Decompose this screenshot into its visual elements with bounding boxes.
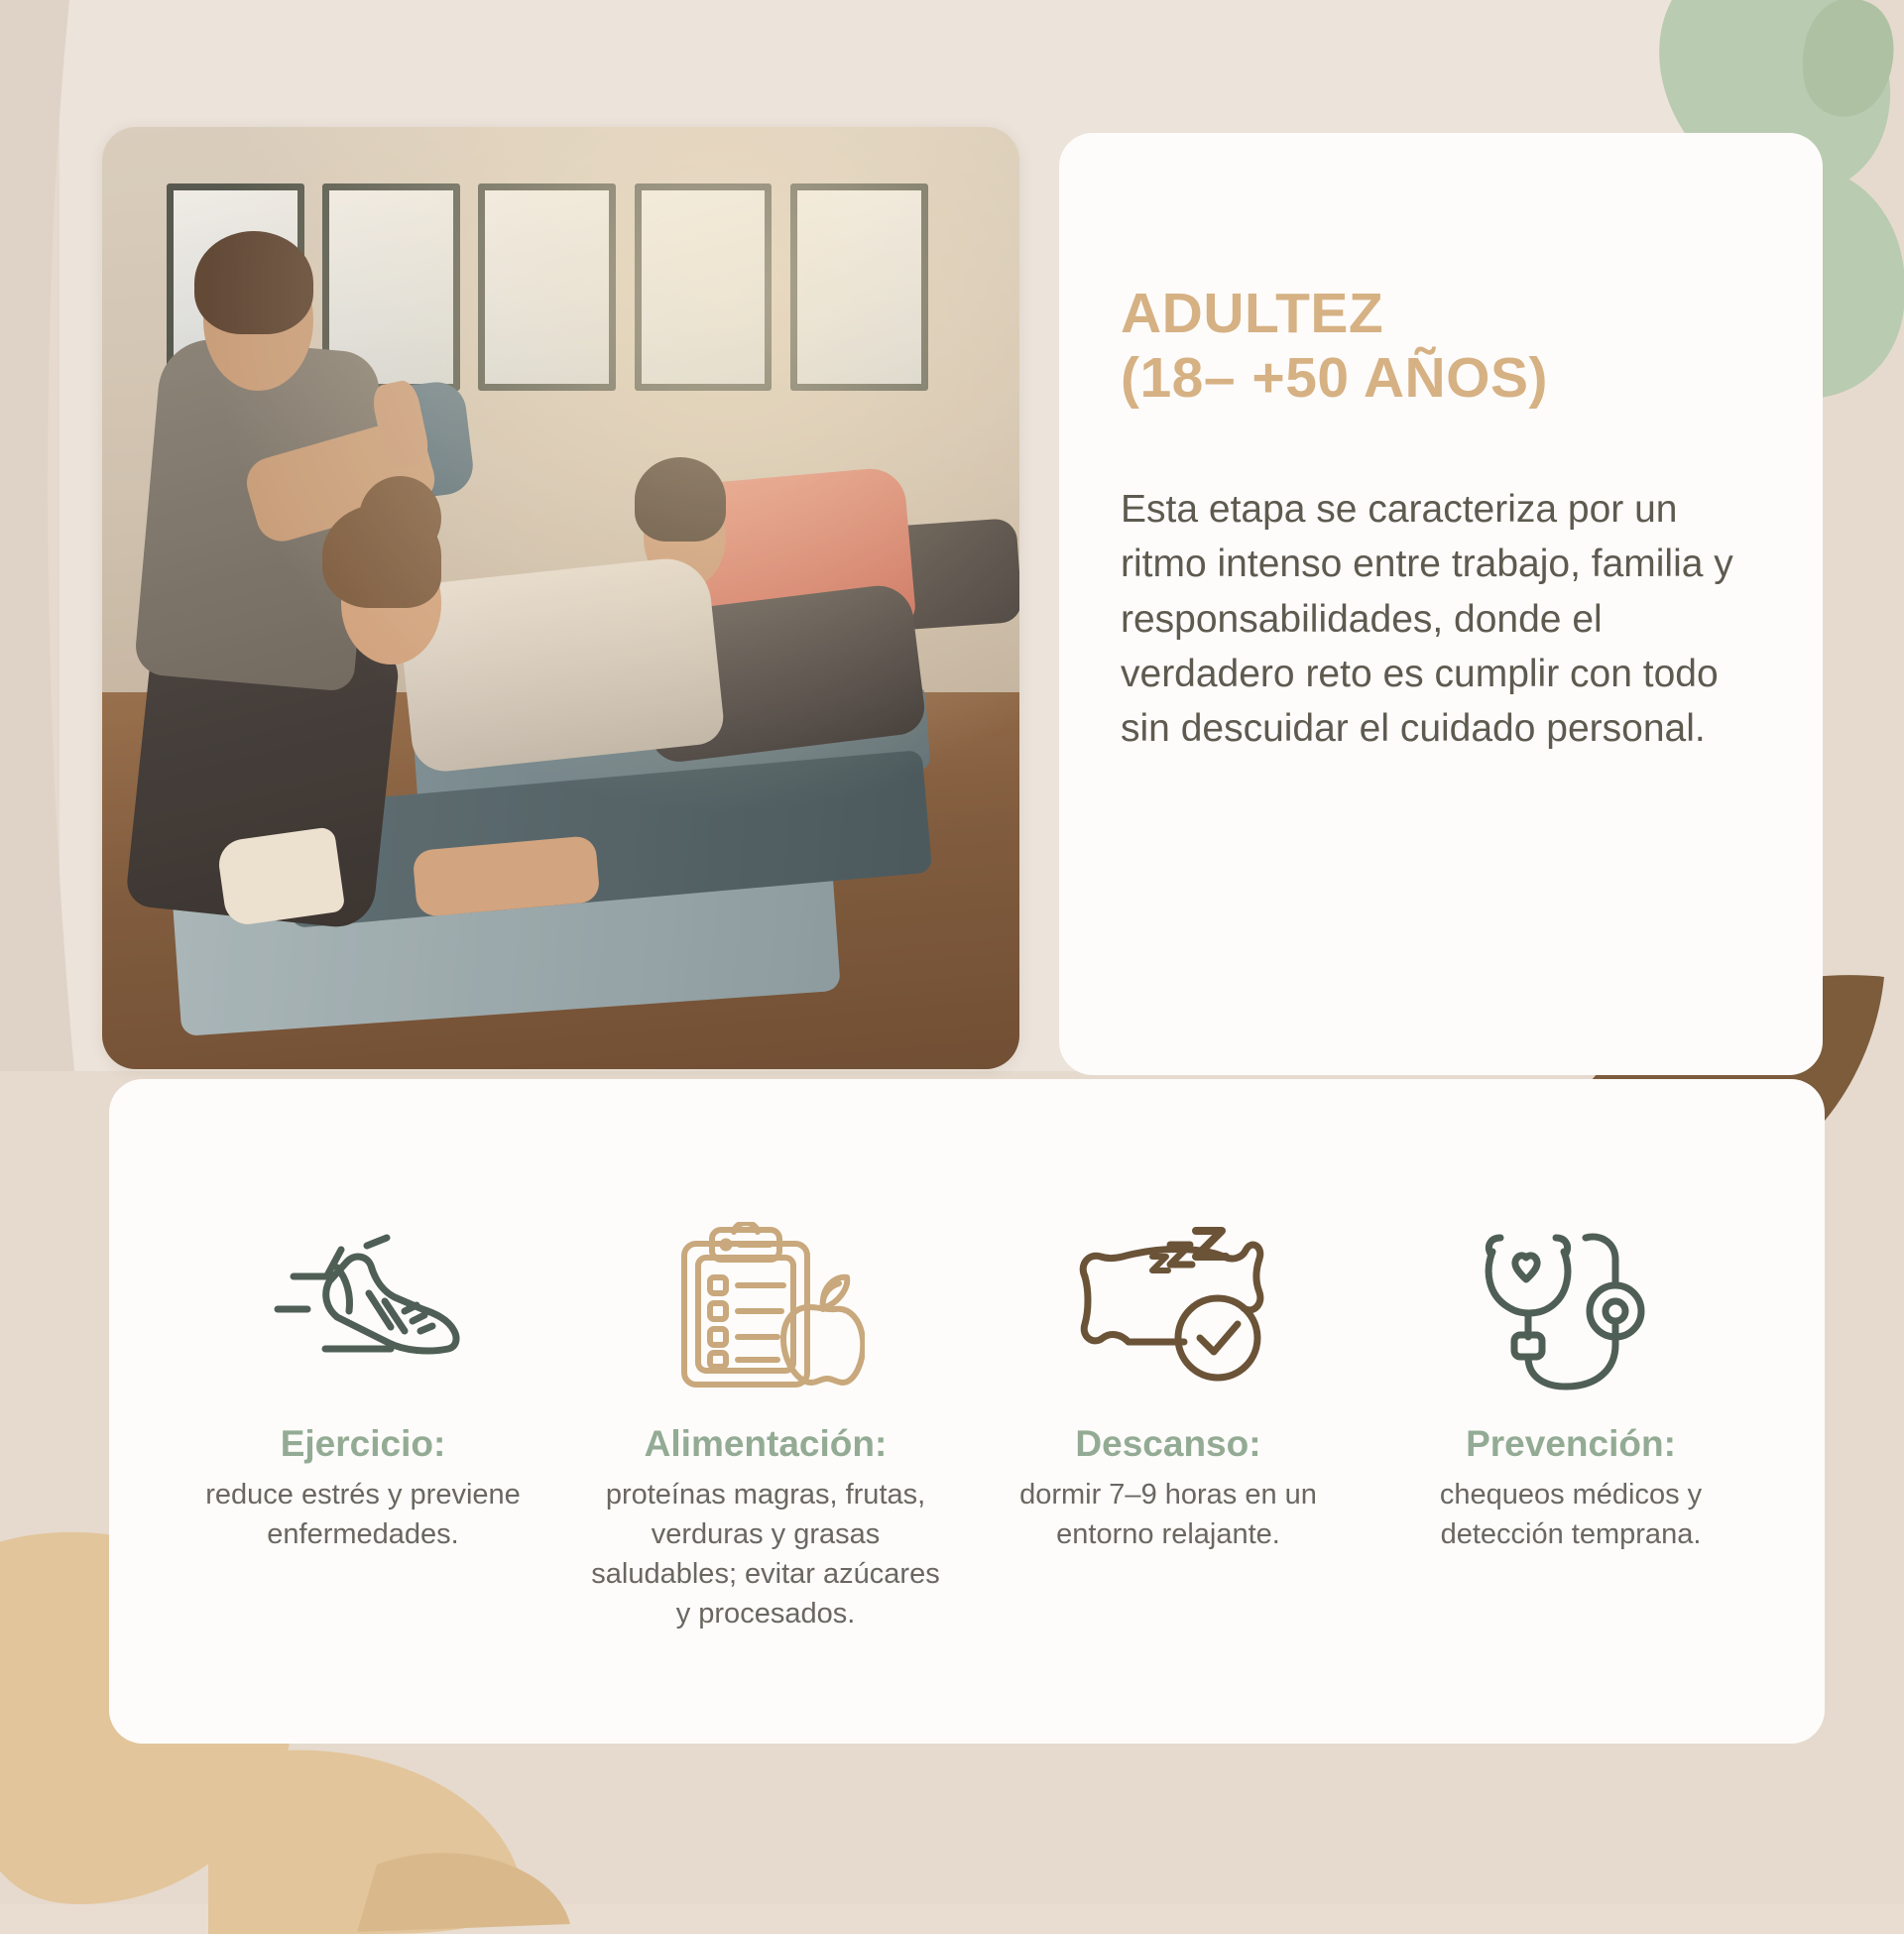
feature-title: Prevención:: [1372, 1423, 1769, 1465]
running-shoe-icon: [165, 1202, 561, 1415]
title-line-1: ADULTEZ: [1121, 282, 1761, 346]
info-card: ADULTEZ (18– +50 AÑOS) Esta etapa se car…: [1059, 133, 1823, 1075]
page-title: ADULTEZ (18– +50 AÑOS): [1121, 282, 1761, 411]
feature-item-descanso: Descanso: dormir 7–9 horas en un entorno…: [970, 1202, 1367, 1554]
feature-description: chequeos médicos y detección temprana.: [1372, 1475, 1769, 1554]
feature-item-ejercicio: Ejercicio: reduce estrés y previene enfe…: [165, 1202, 561, 1554]
stethoscope-heart-icon: [1372, 1202, 1769, 1415]
clipboard-apple-icon: [567, 1202, 964, 1415]
feature-title: Alimentación:: [567, 1423, 964, 1465]
hero-photo-card: [102, 127, 1019, 1069]
feature-item-prevencion: Prevención: chequeos médicos y detección…: [1372, 1202, 1769, 1554]
feature-description: proteínas magras, frutas, verduras y gra…: [567, 1475, 964, 1633]
feature-description: reduce estrés y previene enfermedades.: [165, 1475, 561, 1554]
info-paragraph: Esta etapa se caracteriza por un ritmo i…: [1121, 482, 1761, 757]
feature-title: Ejercicio:: [165, 1423, 561, 1465]
title-line-2: (18– +50 AÑOS): [1121, 346, 1761, 411]
feature-description: dormir 7–9 horas en un entorno relajante…: [970, 1475, 1367, 1554]
feature-title: Descanso:: [970, 1423, 1367, 1465]
gym-photo: [102, 127, 1019, 1069]
pillow-sleep-check-icon: [970, 1202, 1367, 1415]
feature-item-alimentacion: Alimentación: proteínas magras, frutas, …: [567, 1202, 964, 1633]
features-card: Ejercicio: reduce estrés y previene enfe…: [109, 1079, 1825, 1744]
